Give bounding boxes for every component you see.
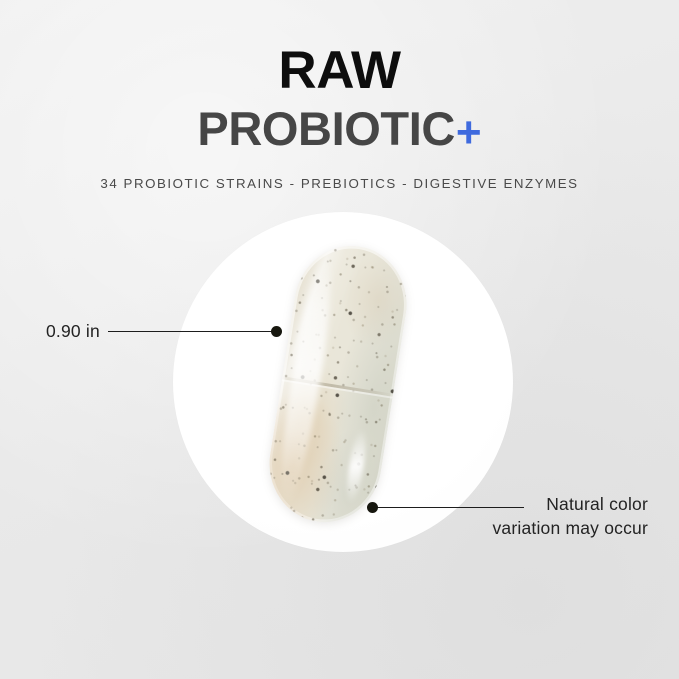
product-name: PROBIOTIC — [197, 102, 455, 155]
callout-leader-line-left — [108, 331, 278, 332]
callout-label-color-note: Natural color variation may occur — [468, 492, 648, 540]
header-block: RAW PROBIOTIC+ 34 PROBIOTIC STRAINS - PR… — [0, 44, 679, 191]
page-title: RAW — [0, 44, 679, 98]
product-tagline: 34 PROBIOTIC STRAINS - PREBIOTICS - DIGE… — [0, 176, 679, 191]
circle-backdrop — [173, 212, 513, 552]
callout-anchor-dot-right — [367, 502, 378, 513]
callout-leader-line-right — [372, 507, 524, 508]
callout-anchor-dot-left — [271, 326, 282, 337]
product-infographic: RAW PROBIOTIC+ 34 PROBIOTIC STRAINS - PR… — [0, 0, 679, 679]
callout-label-dimension: 0.90 in — [46, 321, 100, 342]
callout-color-note-line2: variation may occur — [492, 518, 648, 538]
plus-accent-icon: + — [456, 108, 482, 157]
product-name-row: PROBIOTIC+ — [0, 104, 679, 166]
callout-color-note-line1: Natural color — [546, 494, 648, 514]
